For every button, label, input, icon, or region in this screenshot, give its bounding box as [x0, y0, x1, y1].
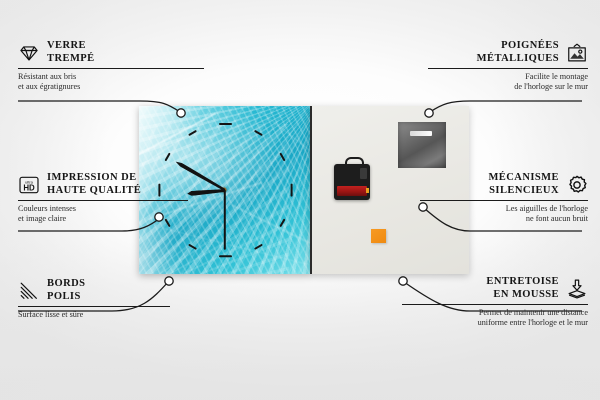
feature-bords-polis: BORDS POLIS Surface lisse et sûre — [18, 278, 218, 320]
feature-title-line2: MÉTALLIQUES — [477, 53, 559, 66]
gear-icon — [566, 174, 588, 196]
clock-tick — [219, 123, 232, 125]
feature-subtitle-line1: Permet de maintenir une distance — [388, 308, 588, 318]
feature-verre-trempe: VERRE TREMPÉ Résistant aux bris et aux é… — [18, 40, 218, 92]
feature-subtitle-line2: de l'horloge sur le mur — [388, 82, 588, 92]
svg-text:HD: HD — [23, 183, 35, 192]
divider — [428, 68, 588, 69]
feature-subtitle-line1: Résistant aux bris — [18, 72, 218, 82]
mechanism-slot — [360, 168, 367, 179]
feature-title-line1: BORDS — [47, 278, 85, 291]
feature-subtitle-line2: uniforme entre l'horloge et le mur — [388, 318, 588, 328]
clock-tick — [290, 184, 292, 197]
clock-tick — [188, 130, 197, 136]
ultra-hd-icon: ultra HD — [18, 174, 40, 196]
divider — [18, 68, 204, 69]
feature-impression-haute-qualite: ultra HD IMPRESSION DE HAUTE QUALITÉ Cou… — [18, 172, 218, 224]
feature-title-line2: SILENCIEUX — [488, 185, 559, 198]
feature-subtitle-line1: Facilite le montage — [388, 72, 588, 82]
feature-title-line2: EN MOUSSE — [486, 289, 559, 302]
feature-header: VERRE TREMPÉ — [18, 40, 218, 65]
clock-tick — [254, 244, 263, 250]
divider — [18, 306, 170, 307]
feature-title-line1: VERRE — [47, 40, 95, 53]
feature-title-line2: HAUTE QUALITÉ — [47, 185, 141, 198]
battery-part — [337, 186, 367, 196]
feature-title-line1: IMPRESSION DE — [47, 172, 141, 185]
feature-header: BORDS POLIS — [18, 278, 218, 303]
metal-hanger-part — [398, 122, 446, 168]
feature-title-line1: ENTRETOISE — [486, 276, 559, 289]
feature-subtitle-line2: et aux égratignures — [18, 82, 218, 92]
clock-tick — [254, 130, 263, 136]
clock-tick — [219, 255, 232, 257]
mechanism-loop — [345, 157, 364, 168]
feature-mecanisme-silencieux: MÉCANISME SILENCIEUX Les aiguilles de l'… — [388, 172, 588, 224]
infographic-canvas: VERRE TREMPÉ Résistant aux bris et aux é… — [0, 0, 600, 400]
picture-frame-hanger-icon — [566, 42, 588, 64]
feature-subtitle-line1: Surface lisse et sûre — [18, 310, 218, 320]
divider — [420, 200, 588, 201]
feature-title-line2: POLIS — [47, 291, 85, 304]
divider — [18, 200, 188, 201]
clock-tick — [279, 219, 285, 228]
hanger-slot — [410, 131, 432, 136]
feature-subtitle-line2: et image claire — [18, 214, 218, 224]
feature-header: POIGNÉES MÉTALLIQUES — [388, 40, 588, 65]
clock-tick — [279, 153, 285, 162]
battery-terminal — [366, 188, 369, 193]
feature-entretoise-en-mousse: ENTRETOISE EN MOUSSE Permet de maintenir… — [388, 276, 588, 328]
clock-tick — [188, 244, 197, 250]
feature-title-line1: POIGNÉES — [477, 40, 559, 53]
feature-subtitle-line1: Les aiguilles de l'horloge — [388, 204, 588, 214]
feature-subtitle-line2: ne font aucun bruit — [388, 214, 588, 224]
foam-spacer-arrow-icon — [566, 278, 588, 300]
feature-subtitle-line1: Couleurs intenses — [18, 204, 218, 214]
clock-mechanism-part — [334, 164, 370, 200]
feature-header: MÉCANISME SILENCIEUX — [388, 172, 588, 197]
foam-spacer-part — [371, 229, 386, 243]
clock-tick — [165, 153, 171, 162]
feature-title-line2: TREMPÉ — [47, 53, 95, 66]
feature-header: ENTRETOISE EN MOUSSE — [388, 276, 588, 301]
feature-title-line1: MÉCANISME — [488, 172, 559, 185]
feature-header: ultra HD IMPRESSION DE HAUTE QUALITÉ — [18, 172, 218, 197]
clock-second-hand — [224, 190, 226, 250]
feature-poignees-metalliques: POIGNÉES MÉTALLIQUES Facilite le montage… — [388, 40, 588, 92]
diamond-icon — [18, 42, 40, 64]
polished-edge-icon — [18, 280, 40, 302]
divider — [402, 304, 588, 305]
